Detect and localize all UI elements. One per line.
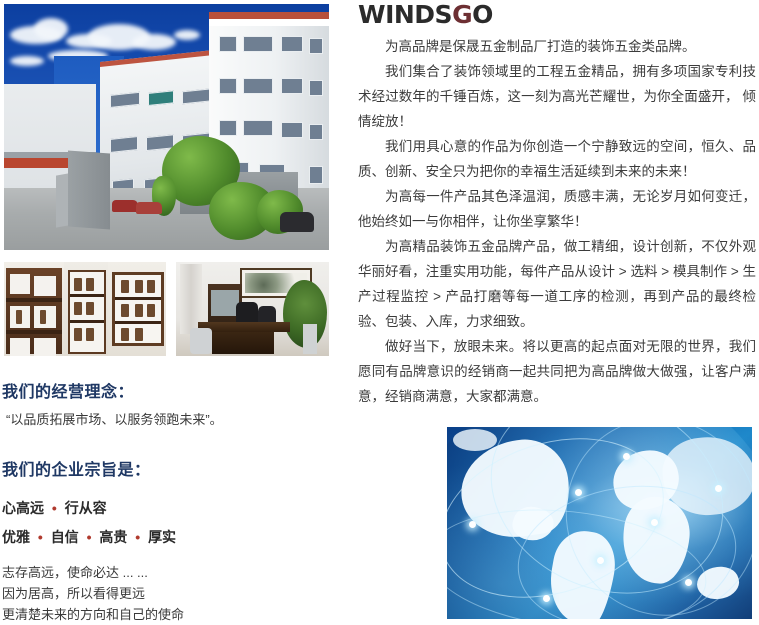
bullet-separator-icon: • xyxy=(83,529,96,545)
motto-word: 厚实 xyxy=(148,529,176,545)
hardware-sample xyxy=(86,302,94,315)
tagline-line-3: 更清楚未来的方向和自己的使命 xyxy=(2,604,184,623)
display-panel xyxy=(34,338,56,356)
window xyxy=(281,122,303,138)
network-node xyxy=(575,489,582,496)
about-paragraph: 为高每一件产品其色泽温润，质感丰满，无论岁月如何变迁，他始终如一与你相伴，让你坐… xyxy=(358,184,756,234)
secondary-photo-row xyxy=(4,262,329,356)
hardware-sample xyxy=(135,328,143,341)
window xyxy=(309,124,323,140)
company-about-text: 为高品牌是保晟五金制品厂打造的装饰五金类品牌。 我们集合了装饰领域里的工程五金精… xyxy=(358,34,756,409)
entrance-gate xyxy=(68,151,110,230)
about-paragraph: 我们集合了装饰领域里的工程五金精品，拥有多项国家专利技术经过数年的千锤百炼，这一… xyxy=(358,59,756,134)
parked-car xyxy=(112,200,138,212)
about-paragraph: 为高精品装饰五金品牌产品，做工精细，设计创新，不仅外观华丽好看，注重实用功能，每… xyxy=(358,234,756,334)
visitor-chair xyxy=(190,328,212,354)
hardware-sample xyxy=(86,278,94,291)
window xyxy=(110,92,140,108)
motto-line-2: 优雅 • 自信 • 高贵 • 厚实 xyxy=(2,527,176,547)
desk-front-panel xyxy=(212,332,274,354)
window xyxy=(309,38,323,54)
bullet-separator-icon: • xyxy=(34,529,47,545)
window xyxy=(219,120,237,136)
cloud-shape xyxy=(132,34,176,50)
hardware-sample xyxy=(135,280,143,293)
hardware-sample xyxy=(40,310,46,324)
hardware-sample xyxy=(16,310,22,324)
cloud-shape xyxy=(174,30,200,40)
purpose-heading: 我们的企业宗旨是： xyxy=(2,456,151,480)
window xyxy=(148,90,174,106)
shelf xyxy=(115,297,161,300)
cloud-shape xyxy=(34,18,68,40)
office-interior-photo xyxy=(176,262,329,356)
window xyxy=(281,78,303,94)
motto-word: 行从容 xyxy=(65,500,107,516)
display-panel xyxy=(10,338,30,356)
display-case-right xyxy=(112,272,164,346)
tower-red-roof xyxy=(209,12,329,19)
network-node xyxy=(623,453,630,460)
window xyxy=(309,166,323,184)
window xyxy=(110,136,138,153)
motto-word: 优雅 xyxy=(2,529,30,545)
showroom-display-photo xyxy=(4,262,166,356)
parked-car xyxy=(280,212,314,232)
water-cooler xyxy=(303,324,317,354)
left-column: 我们的经营理念： “以品质拓展市场、以服务领跑未来”。 我们的企业宗旨是： 心高… xyxy=(0,0,340,625)
hardware-sample xyxy=(147,280,155,293)
window xyxy=(281,36,303,52)
display-panel xyxy=(10,274,30,294)
hardware-sample xyxy=(121,304,129,317)
window xyxy=(309,80,323,96)
tagline-line-1: 志存高远，使命必达 ... ... xyxy=(2,562,148,581)
network-node xyxy=(685,579,692,586)
shelf xyxy=(6,330,62,334)
window xyxy=(219,36,237,52)
hardware-sample xyxy=(86,328,94,341)
display-case-middle xyxy=(68,270,106,354)
network-node xyxy=(543,595,550,602)
brand-logo-text: WINDSGO xyxy=(358,0,493,29)
window xyxy=(243,120,273,136)
window xyxy=(243,36,273,52)
hardware-sample xyxy=(74,278,82,291)
display-panel xyxy=(34,276,56,296)
motto-line-1: 心高远 • 行从容 xyxy=(2,498,107,518)
hardware-sample xyxy=(121,328,129,341)
philosophy-heading: 我们的经营理念： xyxy=(2,378,134,402)
tower-parapet xyxy=(209,19,329,26)
hardware-sample xyxy=(121,280,129,293)
hardware-sample xyxy=(74,302,82,315)
window xyxy=(243,78,273,94)
about-paragraph: 做好当下，放眼未来。将以更高的起点面对无限的世界，我们愿同有品牌意识的经销商一起… xyxy=(358,334,756,409)
shelf xyxy=(70,320,104,323)
motto-word: 自信 xyxy=(51,529,79,545)
hardware-sample xyxy=(74,328,82,341)
about-paragraph: 为高品牌是保晟五金制品厂打造的装饰五金类品牌。 xyxy=(358,34,756,59)
shelf xyxy=(115,321,161,324)
network-node xyxy=(597,557,604,564)
hardware-sample xyxy=(135,304,143,317)
shelf xyxy=(6,298,62,302)
cabinet-glass-door xyxy=(211,290,239,316)
philosophy-quote: “以品质拓展市场、以服务领跑未来”。 xyxy=(6,409,223,428)
network-node xyxy=(715,485,722,492)
network-node xyxy=(469,521,476,528)
window xyxy=(182,88,212,104)
windsgo-brand-logo: WINDSGO xyxy=(358,0,493,30)
about-paragraph: 我们用具心意的作品为你创造一个宁静致远的空间，恒久、品质、创新、安全只为把你的幸… xyxy=(358,134,756,184)
bullet-separator-icon: • xyxy=(48,500,61,516)
motto-word: 心高远 xyxy=(2,500,44,516)
network-node xyxy=(651,519,658,526)
right-column: WINDSGO 为高品牌是保晟五金制品厂打造的装饰五金类品牌。 我们集合了装饰领… xyxy=(340,0,759,625)
hardware-sample xyxy=(147,304,155,317)
motto-word: 高贵 xyxy=(99,529,127,545)
tagline-line-2: 因为居高，所以看得更远 xyxy=(2,583,145,602)
cloud-shape xyxy=(10,56,44,66)
global-network-globe-photo xyxy=(447,427,752,619)
shelf xyxy=(70,294,104,297)
parked-car xyxy=(136,202,162,214)
bullet-separator-icon: • xyxy=(131,529,144,545)
window xyxy=(219,78,237,94)
factory-building-photo xyxy=(4,4,329,250)
